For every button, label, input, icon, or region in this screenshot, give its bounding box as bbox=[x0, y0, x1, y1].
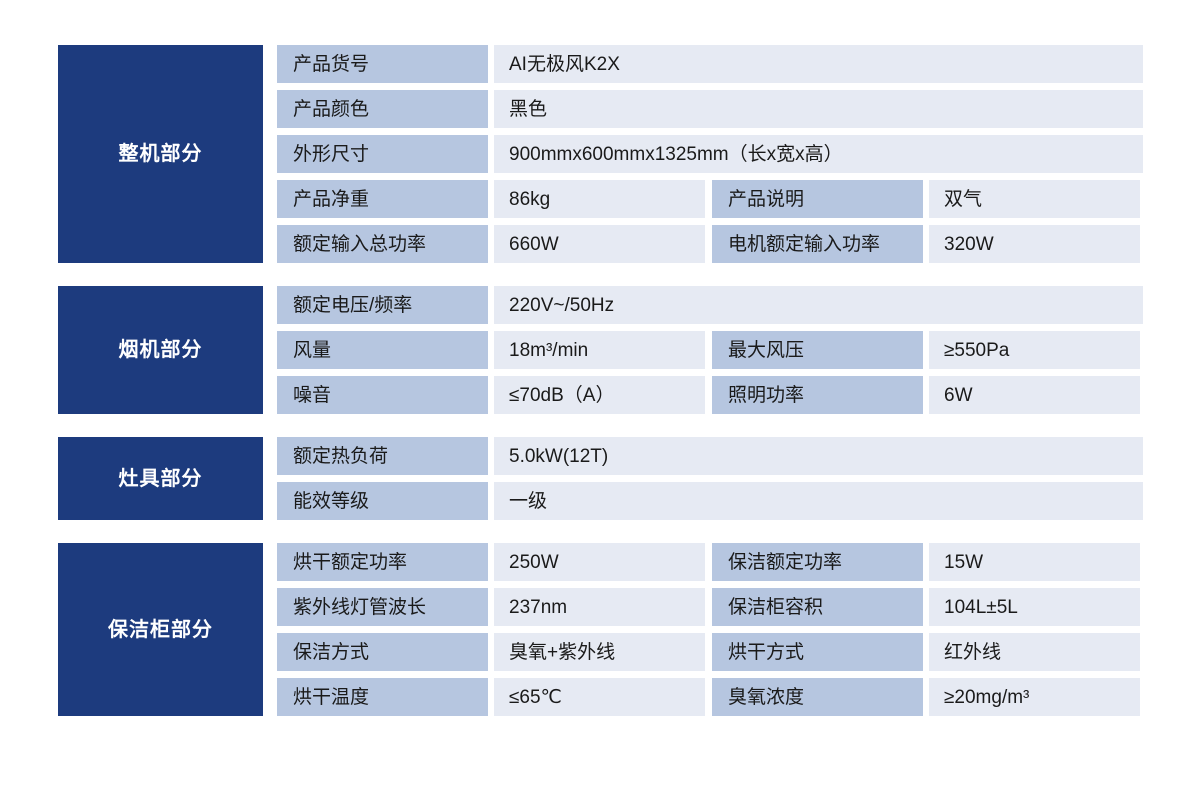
spec-row: 额定热负荷5.0kW(12T) bbox=[277, 437, 1143, 475]
spec-label: 烘干额定功率 bbox=[277, 543, 488, 581]
section-title: 烟机部分 bbox=[58, 286, 263, 414]
spec-row: 产品货号AI无极风K2X bbox=[277, 45, 1143, 83]
spec-value: 臭氧+紫外线 bbox=[494, 633, 705, 671]
spec-label: 产品颜色 bbox=[277, 90, 488, 128]
spec-label: 保洁方式 bbox=[277, 633, 488, 671]
spec-value: 660W bbox=[494, 225, 705, 263]
spec-row: 保洁方式臭氧+紫外线烘干方式红外线 bbox=[277, 633, 1143, 671]
spec-value: 220V~/50Hz bbox=[494, 286, 1143, 324]
section-rows: 额定电压/频率220V~/50Hz风量18m³/min最大风压≥550Pa噪音≤… bbox=[277, 286, 1143, 414]
spec-row: 噪音≤70dB（A）照明功率6W bbox=[277, 376, 1143, 414]
spec-label-secondary: 产品说明 bbox=[712, 180, 923, 218]
spec-label: 产品货号 bbox=[277, 45, 488, 83]
spec-value: AI无极风K2X bbox=[494, 45, 1143, 83]
spec-section: 烟机部分额定电压/频率220V~/50Hz风量18m³/min最大风压≥550P… bbox=[58, 286, 1143, 414]
spec-value: ≤70dB（A） bbox=[494, 376, 705, 414]
spec-row: 能效等级一级 bbox=[277, 482, 1143, 520]
cell-gap bbox=[705, 331, 712, 369]
spec-label: 紫外线灯管波长 bbox=[277, 588, 488, 626]
spec-row: 产品净重86kg产品说明双气 bbox=[277, 180, 1143, 218]
section-rows: 烘干额定功率250W保洁额定功率15W紫外线灯管波长237nm保洁柜容积104L… bbox=[277, 543, 1143, 716]
section-title: 整机部分 bbox=[58, 45, 263, 263]
spec-label-secondary: 照明功率 bbox=[712, 376, 923, 414]
spec-section: 保洁柜部分烘干额定功率250W保洁额定功率15W紫外线灯管波长237nm保洁柜容… bbox=[58, 543, 1143, 716]
cell-gap bbox=[705, 588, 712, 626]
cell-gap bbox=[705, 633, 712, 671]
spec-label: 风量 bbox=[277, 331, 488, 369]
spec-value-secondary: 104L±5L bbox=[929, 588, 1140, 626]
cell-gap bbox=[705, 225, 712, 263]
section-title: 灶具部分 bbox=[58, 437, 263, 520]
spec-value: 900mmx600mmx1325mm（长x宽x高） bbox=[494, 135, 1143, 173]
spec-label: 额定输入总功率 bbox=[277, 225, 488, 263]
section-rows: 额定热负荷5.0kW(12T)能效等级一级 bbox=[277, 437, 1143, 520]
spec-value: 237nm bbox=[494, 588, 705, 626]
spec-row: 烘干温度≤65℃臭氧浓度≥20mg/m³ bbox=[277, 678, 1143, 716]
spec-value: 86kg bbox=[494, 180, 705, 218]
spec-sheet: 整机部分产品货号AI无极风K2X产品颜色黑色外形尺寸900mmx600mmx13… bbox=[0, 0, 1200, 797]
spec-label-secondary: 保洁额定功率 bbox=[712, 543, 923, 581]
spec-value-secondary: ≥20mg/m³ bbox=[929, 678, 1140, 716]
spec-row: 额定输入总功率660W电机额定输入功率320W bbox=[277, 225, 1143, 263]
spec-row: 紫外线灯管波长237nm保洁柜容积104L±5L bbox=[277, 588, 1143, 626]
spec-label: 外形尺寸 bbox=[277, 135, 488, 173]
cell-gap bbox=[705, 678, 712, 716]
spec-label: 额定热负荷 bbox=[277, 437, 488, 475]
cell-gap bbox=[705, 180, 712, 218]
spec-label-secondary: 保洁柜容积 bbox=[712, 588, 923, 626]
spec-label: 额定电压/频率 bbox=[277, 286, 488, 324]
section-title: 保洁柜部分 bbox=[58, 543, 263, 716]
spec-label-secondary: 电机额定输入功率 bbox=[712, 225, 923, 263]
spec-value: 一级 bbox=[494, 482, 1143, 520]
spec-label: 能效等级 bbox=[277, 482, 488, 520]
spec-label-secondary: 最大风压 bbox=[712, 331, 923, 369]
spec-row: 额定电压/频率220V~/50Hz bbox=[277, 286, 1143, 324]
spec-value-secondary: 320W bbox=[929, 225, 1140, 263]
spec-label: 烘干温度 bbox=[277, 678, 488, 716]
spec-value: 250W bbox=[494, 543, 705, 581]
spec-value-secondary: 15W bbox=[929, 543, 1140, 581]
section-rows: 产品货号AI无极风K2X产品颜色黑色外形尺寸900mmx600mmx1325mm… bbox=[277, 45, 1143, 263]
spec-value: 5.0kW(12T) bbox=[494, 437, 1143, 475]
spec-value-secondary: ≥550Pa bbox=[929, 331, 1140, 369]
spec-value: 18m³/min bbox=[494, 331, 705, 369]
spec-row: 风量18m³/min最大风压≥550Pa bbox=[277, 331, 1143, 369]
spec-row: 产品颜色黑色 bbox=[277, 90, 1143, 128]
spec-value-secondary: 6W bbox=[929, 376, 1140, 414]
spec-section: 整机部分产品货号AI无极风K2X产品颜色黑色外形尺寸900mmx600mmx13… bbox=[58, 45, 1143, 263]
specification-table: 整机部分产品货号AI无极风K2X产品颜色黑色外形尺寸900mmx600mmx13… bbox=[58, 45, 1143, 716]
spec-row: 外形尺寸900mmx600mmx1325mm（长x宽x高） bbox=[277, 135, 1143, 173]
spec-label-secondary: 烘干方式 bbox=[712, 633, 923, 671]
spec-label: 噪音 bbox=[277, 376, 488, 414]
spec-value: 黑色 bbox=[494, 90, 1143, 128]
cell-gap bbox=[705, 543, 712, 581]
spec-label-secondary: 臭氧浓度 bbox=[712, 678, 923, 716]
spec-section: 灶具部分额定热负荷5.0kW(12T)能效等级一级 bbox=[58, 437, 1143, 520]
spec-value-secondary: 双气 bbox=[929, 180, 1140, 218]
spec-value: ≤65℃ bbox=[494, 678, 705, 716]
spec-row: 烘干额定功率250W保洁额定功率15W bbox=[277, 543, 1143, 581]
spec-label: 产品净重 bbox=[277, 180, 488, 218]
cell-gap bbox=[705, 376, 712, 414]
spec-value-secondary: 红外线 bbox=[929, 633, 1140, 671]
